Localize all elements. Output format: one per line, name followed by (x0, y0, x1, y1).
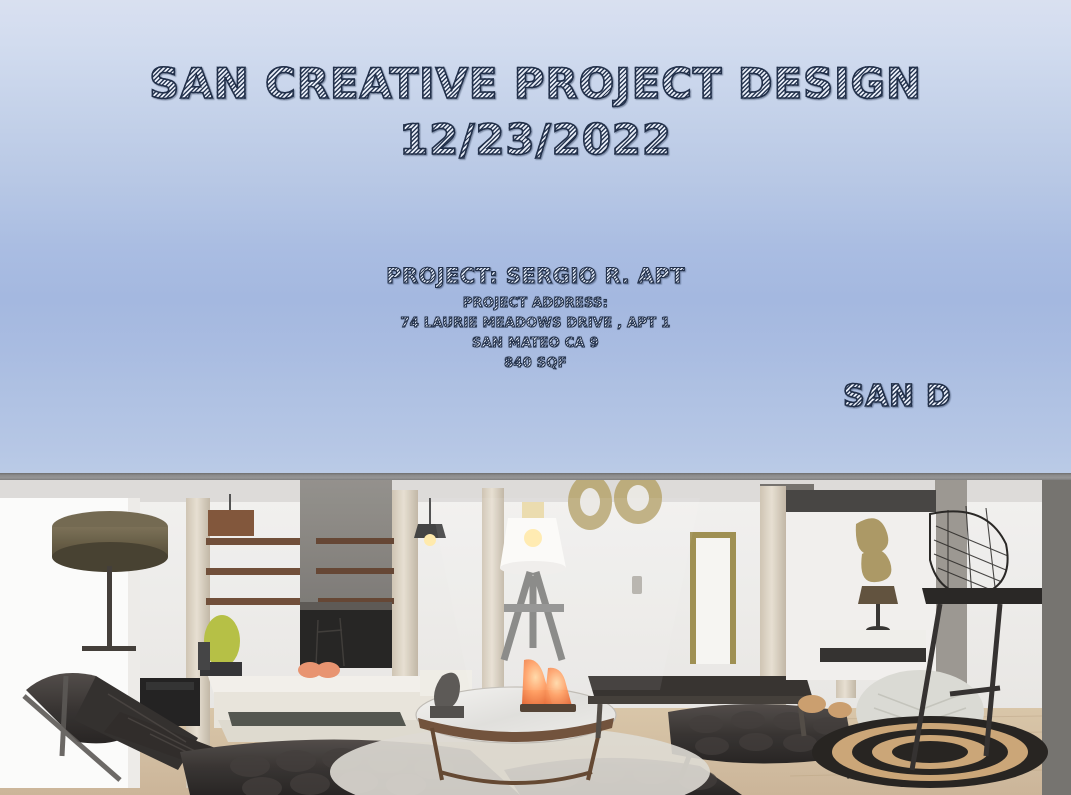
title-date: 12/23/2022 (0, 114, 1071, 166)
project-address-line-1: 74 LAURIE MEADOWS DRIVE , APT 1 (0, 314, 1071, 334)
page-title: SAN CREATIVE PROJECT DESIGN (149, 58, 922, 110)
presentation-slide: SAN CREATIVE PROJECT DESIGN 12/23/2022 P… (0, 0, 1071, 795)
project-area: 840 SQF (0, 354, 1071, 374)
brand-mark: SAN D (843, 378, 951, 416)
project-name: PROJECT: SERGIO R. APT (0, 262, 1071, 290)
title-block: SAN CREATIVE PROJECT DESIGN 12/23/2022 (0, 58, 1071, 166)
project-info-block: PROJECT: SERGIO R. APT PROJECT ADDRESS: … (0, 262, 1071, 374)
interior-render-photo: 3D rendered interior of a modern open-pl… (0, 480, 1071, 795)
section-divider (0, 473, 1071, 480)
project-address-line-2: SAN MATEO CA 9 (0, 334, 1071, 354)
project-address-label: PROJECT ADDRESS: (0, 294, 1071, 314)
